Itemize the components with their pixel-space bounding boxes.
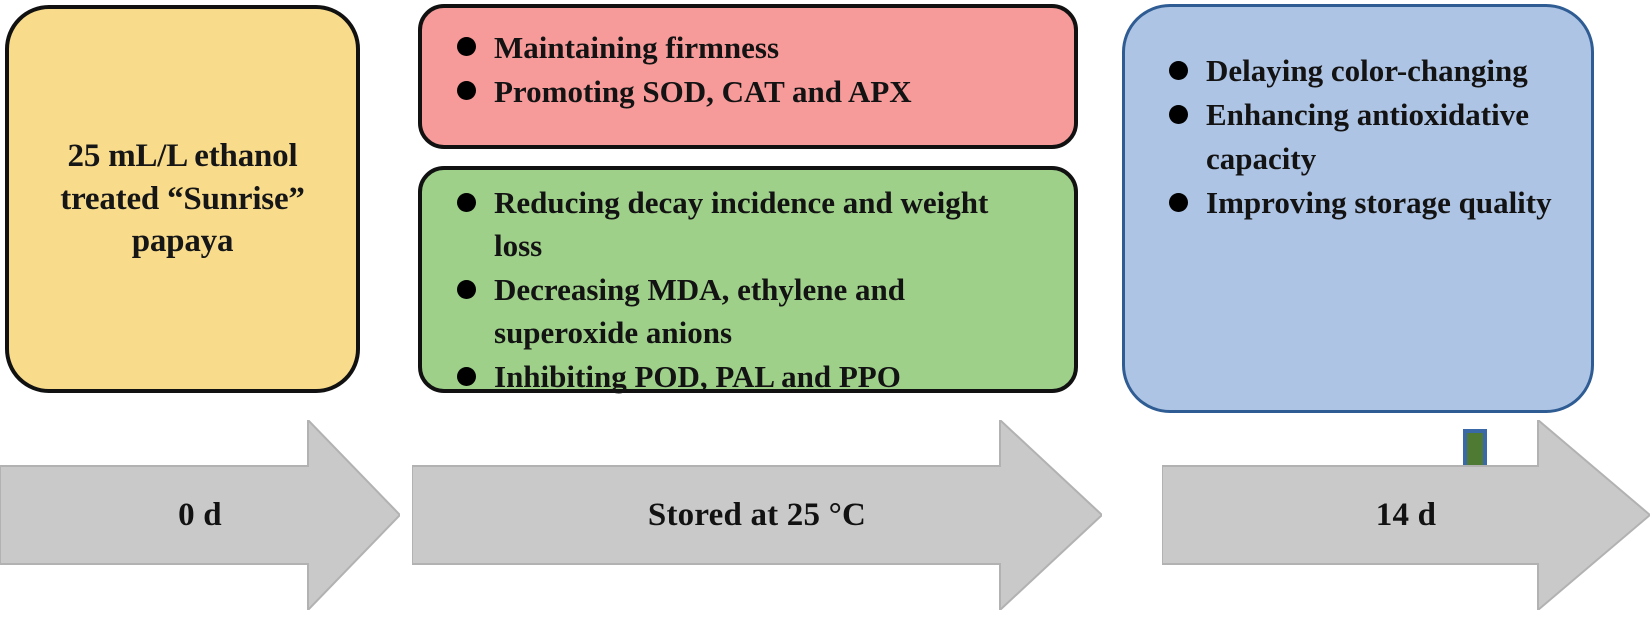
treatment-box: 25 mL/L ethanol treated “Sunrise” papaya: [5, 5, 360, 393]
bullet-dot-icon: [457, 280, 476, 299]
list-item: Reducing decay incidence and weight loss: [444, 182, 1014, 268]
list-item: Improving storage quality: [1149, 181, 1577, 225]
list-item-label: Enhancing antioxidative capacity: [1206, 97, 1529, 176]
list-item: Inhibiting POD, PAL and PPO: [444, 356, 1014, 399]
outcome-panel: Delaying color-changing Enhancing antiox…: [1122, 4, 1594, 413]
list-item-label: Inhibiting POD, PAL and PPO: [494, 359, 901, 394]
bullet-dot-icon: [1169, 61, 1188, 80]
list-item-label: Promoting SOD, CAT and APX: [494, 74, 912, 109]
list-item: Enhancing antioxidative capacity: [1149, 93, 1577, 181]
list-item: Decreasing MDA, ethylene and superoxide …: [444, 269, 1014, 355]
increase-panel: Maintaining firmness Promoting SOD, CAT …: [418, 4, 1078, 149]
decrease-panel: Reducing decay incidence and weight loss…: [418, 166, 1078, 393]
treatment-label: 25 mL/L ethanol treated “Sunrise” papaya: [42, 135, 322, 264]
treatment-line-1: 25 mL/L ethanol: [60, 135, 304, 178]
list-item-label: Decreasing MDA, ethylene and superoxide …: [494, 272, 905, 350]
arrow-right-icon: [1162, 420, 1650, 610]
bullet-dot-icon: [1169, 193, 1188, 212]
list-item-label: Maintaining firmness: [494, 30, 779, 65]
increase-list: Maintaining firmness Promoting SOD, CAT …: [444, 26, 1004, 113]
list-item-label: Improving storage quality: [1206, 185, 1552, 220]
arrow-right-icon: [412, 420, 1102, 610]
graphical-abstract: 25 mL/L ethanol treated “Sunrise” papaya…: [0, 0, 1650, 622]
list-item: Promoting SOD, CAT and APX: [444, 70, 1004, 114]
list-item: Delaying color-changing: [1149, 49, 1577, 93]
timeline-step-14d: 14 d: [1162, 420, 1650, 610]
bullet-dot-icon: [1169, 105, 1188, 124]
list-item: Maintaining firmness: [444, 26, 1004, 70]
treatment-line-2: treated “Sunrise”: [60, 178, 304, 221]
timeline-step-stored: Stored at 25 °C: [412, 420, 1102, 610]
list-item-label: Delaying color-changing: [1206, 53, 1528, 88]
bullet-dot-icon: [457, 37, 476, 56]
bullet-dot-icon: [457, 193, 476, 212]
treatment-line-3: papaya: [60, 220, 304, 263]
outcome-list: Delaying color-changing Enhancing antiox…: [1149, 49, 1577, 225]
arrow-right-icon: [0, 420, 400, 610]
decrease-list: Reducing decay incidence and weight loss…: [444, 182, 1014, 400]
list-item-label: Reducing decay incidence and weight loss: [494, 185, 988, 263]
bullet-dot-icon: [457, 81, 476, 100]
bullet-dot-icon: [457, 367, 476, 386]
timeline-step-0d: 0 d: [0, 420, 400, 610]
